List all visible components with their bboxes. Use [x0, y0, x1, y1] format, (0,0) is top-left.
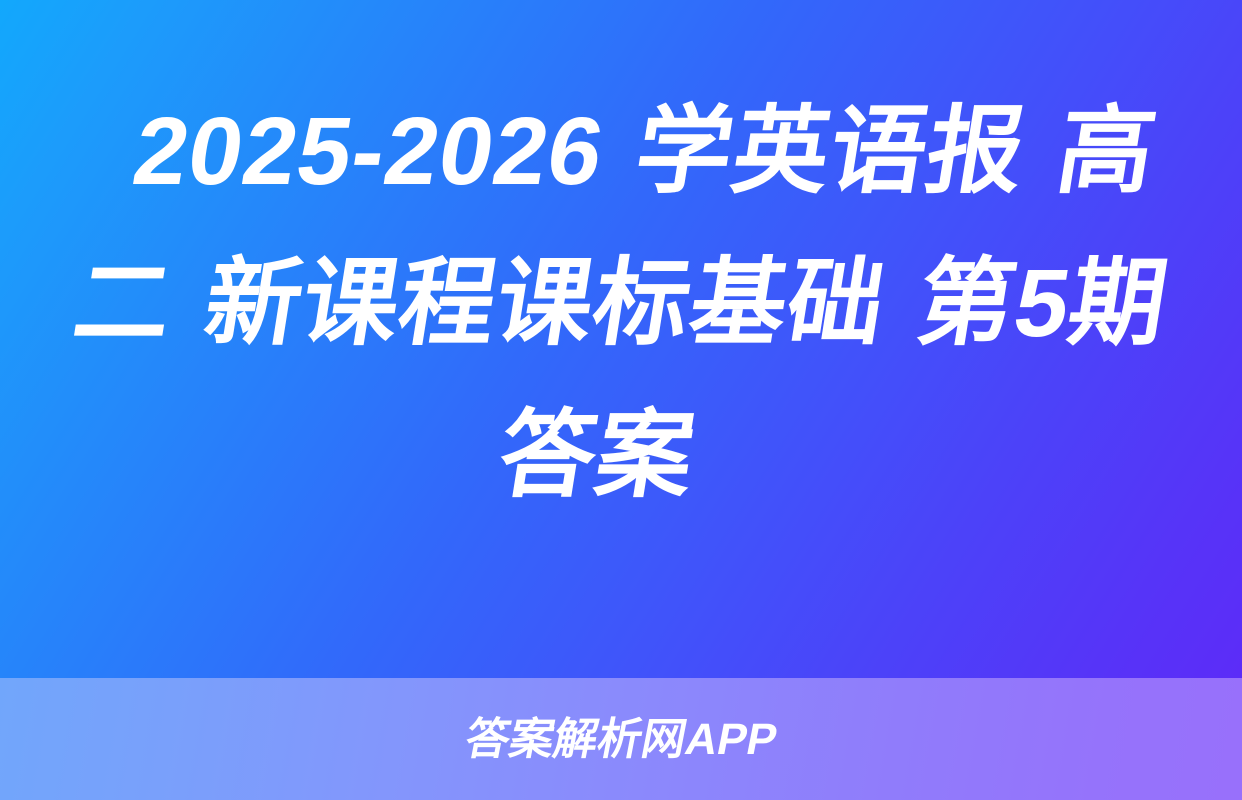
app-watermark-label: 答案解析网APP	[461, 717, 780, 763]
watermark-footer-bar: 答案解析网APP	[0, 678, 1242, 800]
answer-card-image: 2025-2026 学英语报 高二 新课程课标基础 第5期答案 答案解析网APP	[0, 0, 1242, 800]
page-title: 2025-2026 学英语报 高二 新课程课标基础 第5期答案	[30, 76, 1212, 532]
hero-gradient-panel: 2025-2026 学英语报 高二 新课程课标基础 第5期答案	[0, 0, 1242, 678]
